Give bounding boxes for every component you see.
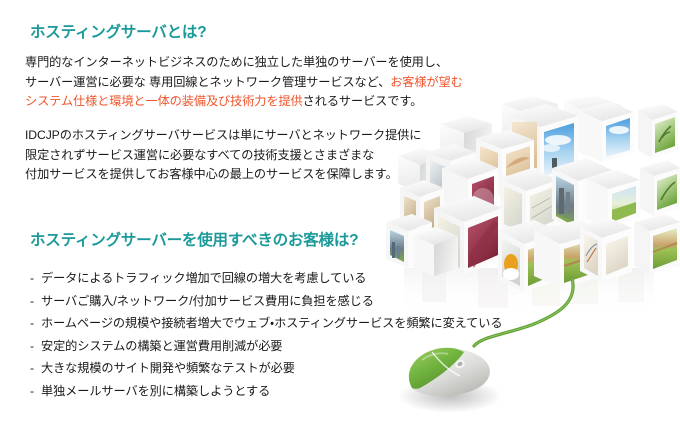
section-1-paragraph-1: 専門的なインターネットビジネスのために独立した単独のサーバーを使用し、 サーバー…	[25, 53, 463, 112]
list-item: -ホームページの規模や接続者増大でウェブ・ホスティングサービスを頻繁に変えている	[30, 312, 502, 335]
list-item: -安定的システムの構築と運営費用削減が必要	[30, 335, 502, 358]
list-item-label: データによるトラフィック増加で回線の増大を考慮している	[41, 271, 366, 285]
section-1-paragraph-2: IDCJPのホスティングサーバサービスは単にサーバとネットワーク提供に 限定され…	[25, 126, 421, 185]
cube-photo-leaf-lower	[640, 160, 680, 216]
paragraph-line: システム仕様と環境と一体の装備及び技術力を提供されるサービスです。	[25, 92, 463, 112]
bullet-marker: -	[30, 335, 41, 358]
list-item-label: 安定的システムの構築と運営費用削減が必要	[41, 339, 282, 353]
cube-photo-sky-large	[508, 104, 578, 182]
bullet-marker: -	[30, 357, 41, 380]
text-run: されるサービスです。	[303, 94, 423, 108]
cube-photo-leaf	[638, 104, 678, 158]
cube-photo-sand	[476, 130, 534, 196]
cube-photo-map-upper	[500, 168, 558, 238]
cube	[502, 96, 558, 148]
cube-photo-sky-small	[578, 102, 634, 162]
text-run: サーバー運営に必要な 専用回線とネットワーク管理サービスなど、	[25, 75, 390, 89]
text-run-highlight: お客様が望む	[390, 75, 463, 89]
cube-photo-city-small	[386, 214, 432, 268]
cube-photo-city	[552, 158, 612, 232]
cube-photo-maroon	[442, 158, 498, 222]
section-2-heading: ホスティングサーバーを使用すべきのお客様は?	[30, 228, 358, 250]
bullet-marker: -	[30, 267, 41, 290]
cube-photo-wood-right	[634, 214, 680, 274]
list-item-label: ホームページの規模や接続者増大でウェブ・ホスティングサービスを頻繁に変えている	[41, 316, 502, 330]
list-item-label: サーバご購入/ネットワーク/付加サービス費用に負担を感じる	[41, 294, 374, 308]
paragraph-line: 専門的なインターネットビジネスのために独立した単独のサーバーを使用し、	[25, 53, 463, 73]
cube	[564, 96, 622, 148]
bullet-marker: -	[30, 380, 41, 403]
paragraph-line: サーバー運営に必要な 専用回線とネットワーク管理サービスなど、お客様が望む	[25, 73, 463, 93]
cube-photo-tan-left	[400, 180, 444, 238]
paragraph-line: 付加サービスを提供してお客様中心の最上のサービスを保障します。	[25, 165, 421, 185]
text-run-highlight: システム仕様と環境と一体の装備及び技術力を提供	[25, 94, 303, 108]
text-run: 付加サービスを提供してお客様中心の最上のサービスを保障します。	[25, 167, 398, 181]
requirements-list: -データによるトラフィック増加で回線の増大を考慮している -サーバご購入/ネット…	[30, 267, 502, 402]
paragraph-line: IDCJPのホスティングサーバサービスは単にサーバとネットワーク提供に	[25, 126, 421, 146]
bullet-marker: -	[30, 312, 41, 335]
list-item: -単独メールサーバを別に構築しようとする	[30, 380, 502, 403]
list-item: -大きな規模のサイト開発や頻繁なテストが必要	[30, 357, 502, 380]
cube-photo-frame-plain	[426, 144, 476, 202]
list-item: -データによるトラフィック増加で回線の増大を考慮している	[30, 267, 502, 290]
text-run: 限定されずサービス運営に必要なすべての技術支援とさまざまな	[25, 148, 374, 162]
bullet-marker: -	[30, 290, 41, 313]
list-item-label: 大きな規模のサイト開発や頻繁なテストが必要	[41, 361, 295, 375]
paragraph-line: 限定されずサービス運営に必要なすべての技術支援とさまざまな	[25, 146, 421, 166]
cube-photo-gold-egg	[498, 220, 560, 292]
cube-photo-maroon-large	[434, 196, 502, 274]
cube-photo-paper-sketch	[580, 218, 632, 282]
text-run: 専門的なインターネットビジネスのために独立した単独のサーバーを使用し、	[25, 55, 448, 69]
text-run: IDCJPのホスティングサーバサービスは単にサーバとネットワーク提供に	[25, 128, 421, 142]
cube-photo-grass-wood	[534, 220, 604, 288]
page-root: ホスティングサーバとは? 専門的なインターネットビジネスのために独立した単独のサ…	[0, 0, 680, 425]
section-1-heading: ホスティングサーバとは?	[30, 20, 206, 42]
cube-photo-meadow	[586, 170, 640, 228]
list-item: -サーバご購入/ネットワーク/付加サービス費用に負担を感じる	[30, 290, 502, 313]
list-item-label: 単独メールサーバを別に構築しようとする	[41, 384, 270, 398]
cube	[440, 116, 492, 164]
